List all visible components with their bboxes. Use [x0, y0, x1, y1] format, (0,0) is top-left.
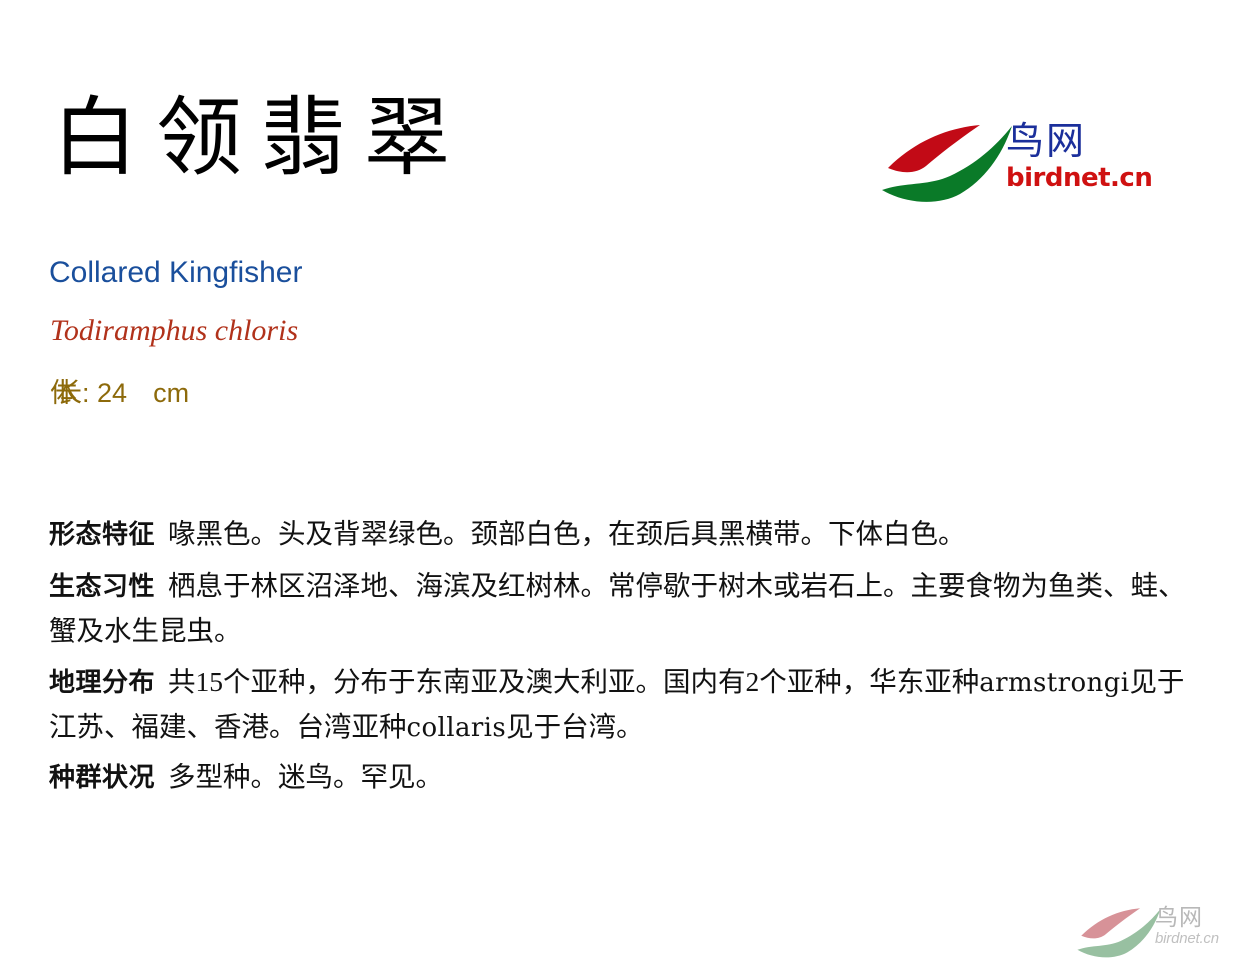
- section-population-label: 种群状况: [49, 763, 155, 793]
- body-length-unit: cm: [153, 378, 189, 408]
- birdnet-watermark: 鸟网 birdnet.cn: [1075, 903, 1227, 965]
- section-morphology-text: 喙黑色。头及背翠绿色。颈部白色，在颈后具黑横带。下体白色。: [168, 518, 966, 549]
- section-habits-label: 生态习性: [49, 572, 155, 602]
- birdnet-logo-text: 鸟网 birdnet.cn: [1006, 122, 1128, 192]
- section-distribution-text-3: 见于台湾。: [506, 711, 644, 742]
- birdnet-watermark-url: birdnet.cn: [1155, 930, 1231, 947]
- body-length-label: 体长: [50, 378, 60, 409]
- section-distribution-text-1: 共15个亚种，分布于东南亚及澳大利亚。国内有2个亚种，华东亚种: [168, 666, 979, 697]
- body-length-value: 24: [97, 378, 127, 408]
- section-habits: 生态习性栖息于林区沼泽地、海滨及红树林。常停歇于树木或岩石上。主要食物为鱼类、蛙…: [49, 564, 1197, 653]
- birdnet-swoosh-icon: [880, 120, 1014, 206]
- section-population-text: 多型种。迷鸟。罕见。: [168, 761, 443, 792]
- description-block: 形态特征喙黑色。头及背翠绿色。颈部白色，在颈后具黑横带。下体白色。 生态习性栖息…: [49, 512, 1197, 807]
- birdnet-logo-cjk: 鸟网: [1006, 122, 1128, 162]
- subspecies-collaris: collaris: [407, 713, 507, 743]
- scientific-name: Todiramphus chloris: [50, 314, 298, 347]
- birdnet-watermark-cjk: 鸟网: [1155, 905, 1231, 930]
- section-distribution-label: 地理分布: [49, 668, 155, 698]
- birdnet-logo-url: birdnet.cn: [1006, 164, 1128, 192]
- section-habits-text: 栖息于林区沼泽地、海滨及红树林。常停歇于树木或岩石上。主要食物为鱼类、蛙、蟹及水…: [49, 570, 1186, 646]
- body-length-row: 体长: 24cm: [50, 379, 189, 409]
- section-morphology: 形态特征喙黑色。头及背翠绿色。颈部白色，在颈后具黑横带。下体白色。: [49, 512, 1197, 557]
- english-name: Collared Kingfisher: [49, 256, 302, 289]
- body-length-separator: :: [82, 378, 90, 408]
- birdnet-watermark-swoosh-icon: [1075, 905, 1163, 960]
- birdnet-logo: 鸟网 birdnet.cn: [880, 116, 1128, 212]
- section-distribution: 地理分布共15个亚种，分布于东南亚及澳大利亚。国内有2个亚种，华东亚种armst…: [49, 660, 1197, 750]
- section-population: 种群状况多型种。迷鸟。罕见。: [49, 755, 1197, 800]
- page-title: 白领翡翠: [52, 95, 468, 181]
- section-morphology-label: 形态特征: [49, 520, 155, 550]
- birdnet-watermark-text: 鸟网 birdnet.cn: [1155, 905, 1231, 947]
- subspecies-armstrongi: armstrongi: [979, 668, 1129, 698]
